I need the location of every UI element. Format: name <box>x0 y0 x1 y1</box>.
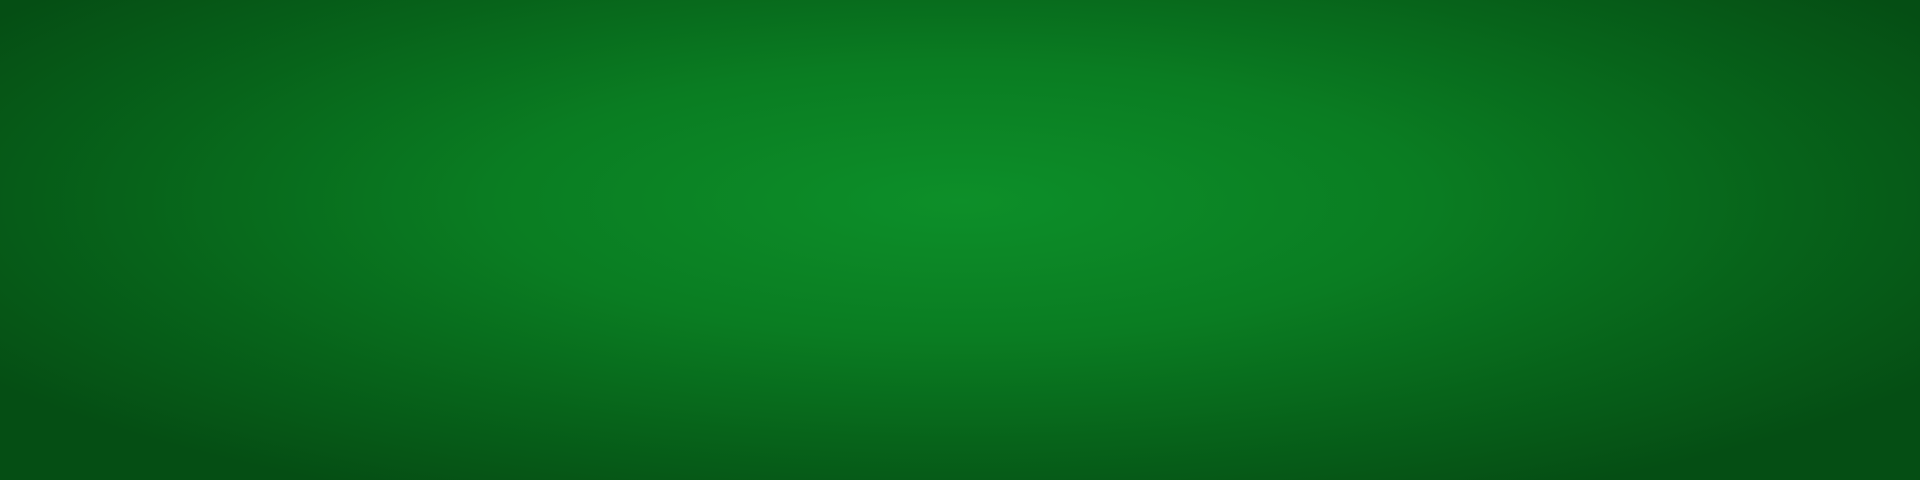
skyline-building <box>26 52 56 99</box>
foliage-background <box>0 0 1920 480</box>
hero-banner: 适用 绿色 节能 安全 专注环保致力创新 FOCUSON ENVIPONMENT… <box>0 0 1920 480</box>
